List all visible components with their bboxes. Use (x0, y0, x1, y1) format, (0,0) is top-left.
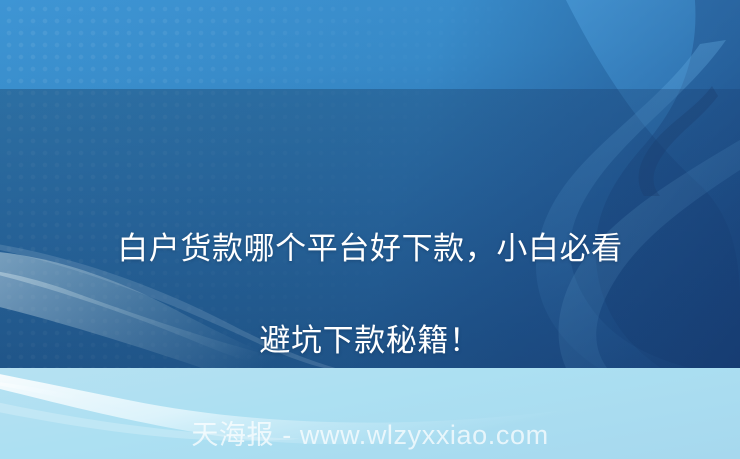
headline-line-2: 避坑下款秘籍！ (0, 318, 740, 364)
poster-image: 白户货款哪个平台好下款，小白必看 避坑下款秘籍！ 天海报 - www.wlzyx… (0, 0, 740, 459)
poster-headline: 白户货款哪个平台好下款，小白必看 避坑下款秘籍！ (0, 180, 740, 410)
watermark-text: 天海报 - www.wlzyxxiao.com (0, 418, 740, 452)
headline-line-1: 白户货款哪个平台好下款，小白必看 (0, 226, 740, 272)
